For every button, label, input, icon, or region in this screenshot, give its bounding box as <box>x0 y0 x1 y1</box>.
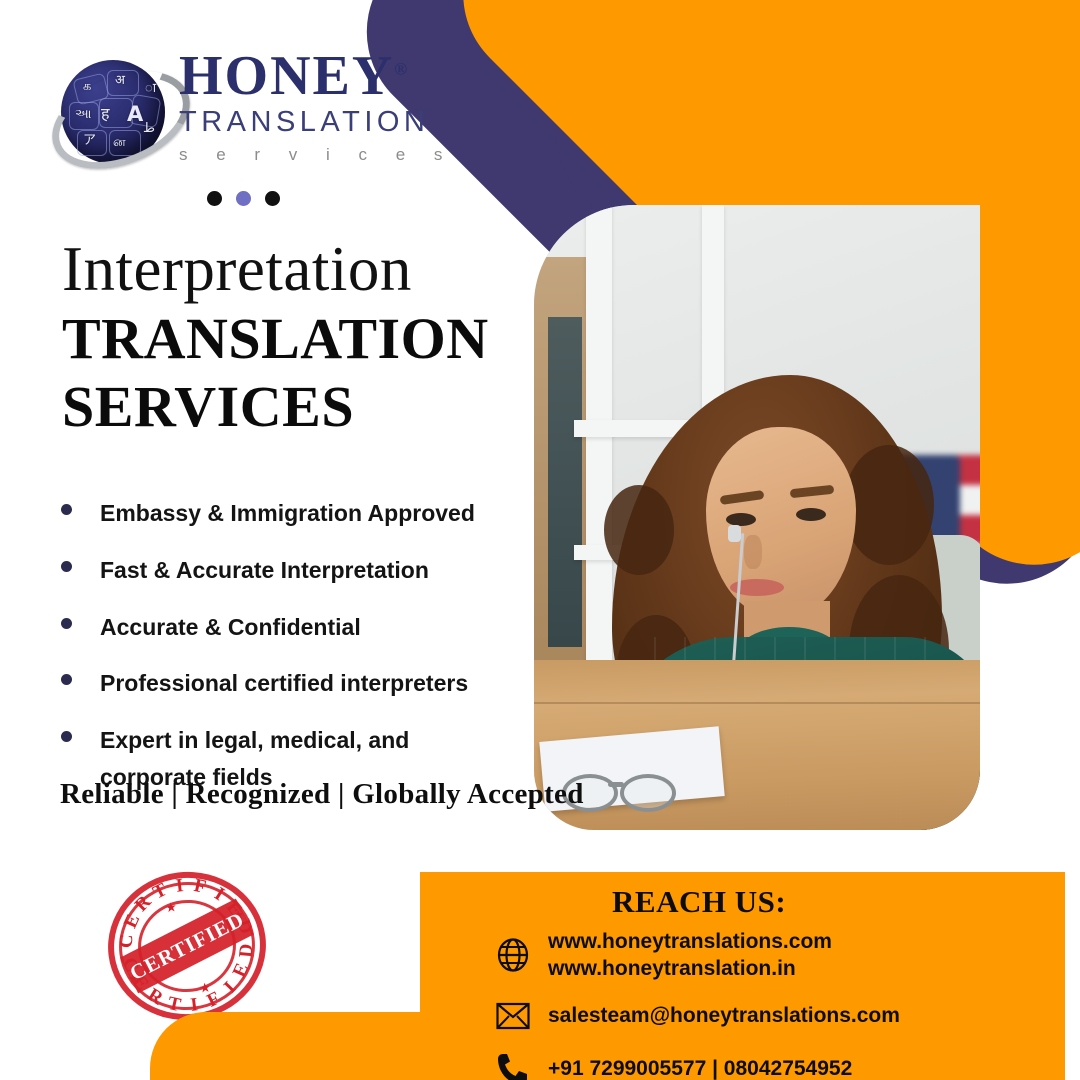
website-line-2[interactable]: www.honeytranslation.in <box>548 955 832 982</box>
list-item-label: Embassy & Immigration Approved <box>100 495 475 532</box>
photo-window <box>534 257 592 677</box>
page-title-line1: TRANSLATION <box>62 305 489 373</box>
list-item-label: Accurate & Confidential <box>100 609 361 646</box>
logo-wordmark-primary: HONEY® <box>179 48 479 104</box>
website-line-1[interactable]: www.honeytranslations.com <box>548 928 832 955</box>
photo-earphone <box>728 525 741 542</box>
logo-wordmark-tertiary: s e r v i c e s <box>179 146 479 163</box>
bullet-dot-icon <box>61 504 72 515</box>
website-text: www.honeytranslations.com www.honeytrans… <box>548 928 832 983</box>
contact-row-website[interactable]: www.honeytranslations.com www.honeytrans… <box>492 928 1052 983</box>
decor-dot <box>265 191 280 206</box>
bullet-dot-icon <box>61 674 72 685</box>
certified-stamp-badge: CERTIFIED CERTIFIED ★ ★ ★ ★ CERTIFIED <box>100 863 275 1029</box>
registered-trademark-icon: ® <box>394 59 407 78</box>
page-title: TRANSLATION SERVICES <box>62 305 489 441</box>
list-item: Fast & Accurate Interpretation <box>55 552 525 589</box>
globe-icon <box>492 935 534 975</box>
email-text[interactable]: salesteam@honeytranslations.com <box>548 1002 900 1029</box>
tagline: Reliable | Recognized | Globally Accepte… <box>60 778 584 811</box>
page-title-line2: SERVICES <box>62 373 489 441</box>
phone-text[interactable]: +91 7299005577 | 08042754952 <box>548 1055 852 1080</box>
list-item: Embassy & Immigration Approved <box>55 495 525 532</box>
page-subtitle: Interpretation <box>62 238 412 301</box>
bullet-dot-icon <box>61 731 72 742</box>
logo-wordmark-secondary: TRANSLATION <box>179 108 479 137</box>
hero-photo <box>534 205 980 830</box>
list-item: Professional certified interpreters <box>55 665 525 702</box>
list-item-label: Fast & Accurate Interpretation <box>100 552 429 589</box>
bullet-dot-icon <box>61 561 72 572</box>
bullet-dot-icon <box>61 618 72 629</box>
decor-dots <box>207 191 280 206</box>
decor-dot-highlight <box>236 191 251 206</box>
envelope-icon <box>492 996 534 1036</box>
footer-heading: REACH US: <box>612 884 786 920</box>
phone-icon <box>492 1049 534 1080</box>
list-item-label: Professional certified interpreters <box>100 665 468 702</box>
brand-logo: க अ ा આ A ह ア ன ط HONEY® TRANSLATION s e… <box>55 48 475 183</box>
list-item: Accurate & Confidential <box>55 609 525 646</box>
contact-row-phone[interactable]: +91 7299005577 | 08042754952 <box>492 1049 1052 1080</box>
poster-canvas: க अ ा આ A ह ア ன ط HONEY® TRANSLATION s e… <box>0 0 1080 1080</box>
logo-honey-text: HONEY <box>179 45 394 107</box>
feature-list: Embassy & Immigration Approved Fast & Ac… <box>55 495 525 816</box>
decor-dot <box>207 191 222 206</box>
contact-details: www.honeytranslations.com www.honeytrans… <box>492 928 1052 1080</box>
globe-logo-icon: க अ ा આ A ह ア ன ط <box>55 54 173 172</box>
contact-row-email[interactable]: salesteam@honeytranslations.com <box>492 996 1052 1036</box>
